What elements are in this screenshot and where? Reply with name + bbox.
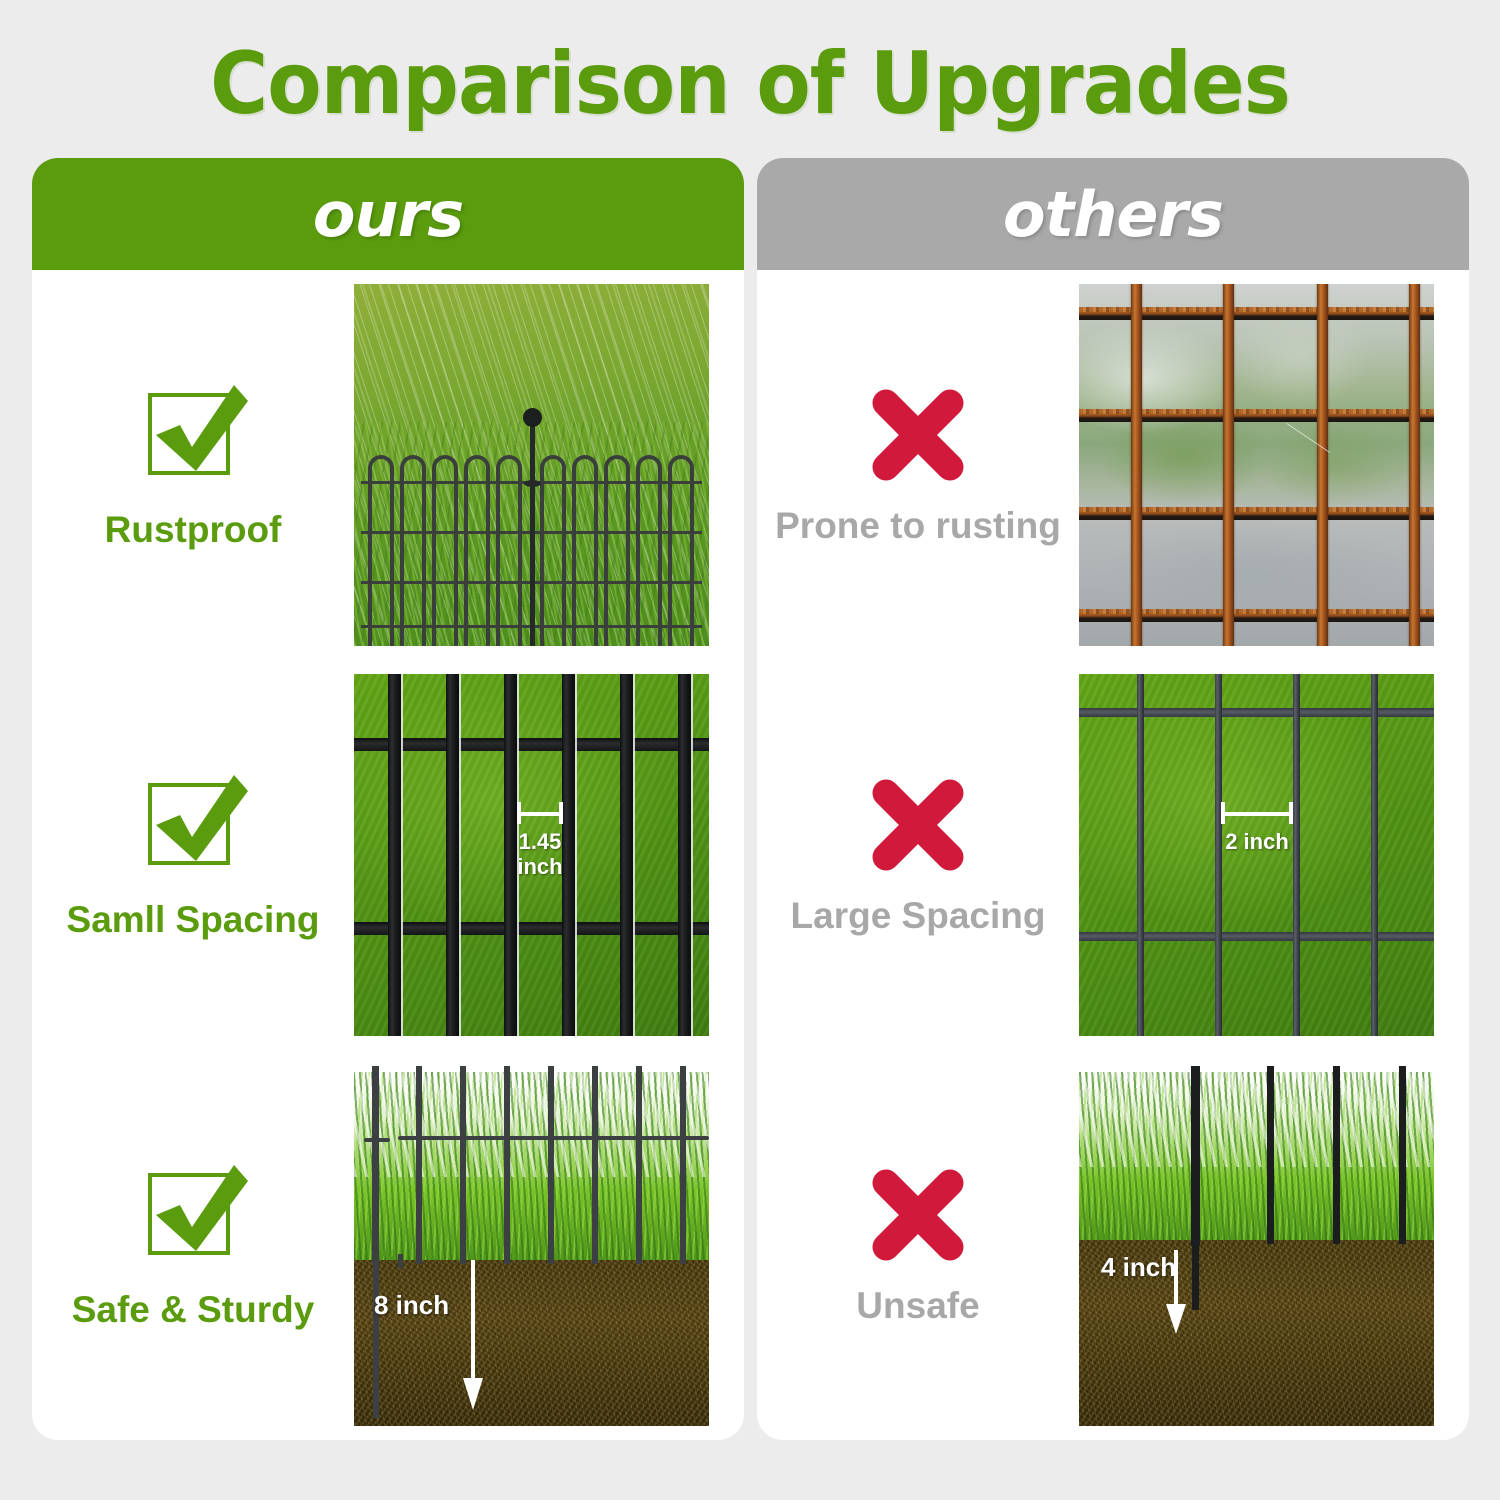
feature-rustproof: Rustproof [32,379,354,551]
column-header-others: others [757,158,1469,270]
fence-finial-collar [524,480,541,487]
page-title: Comparison of Upgrades [60,34,1440,134]
rainy-grass-fence-photo [354,284,709,646]
fence-finial-ball [523,408,542,427]
down-arrow-icon [462,1260,484,1412]
narrow-bar-spacing-photo: 1.45 inch [354,674,709,1036]
rusty-grid-graphic [1079,284,1434,646]
fence-finial-post [530,424,535,646]
row-spacing-ours: Samll Spacing [32,660,744,1050]
feature-large-spacing: Large Spacing [757,773,1079,937]
row-rustproof-ours: Rustproof [32,270,744,660]
dimension-label: 1.45 inch [517,830,562,879]
cross-x-icon [866,383,970,487]
feature-label-small-spacing: Samll Spacing [67,899,320,941]
feature-label-safe-sturdy: Safe & Sturdy [72,1289,315,1331]
rusty-mesh-photo [1079,284,1434,646]
dimension-annotation-2-inch: 2 inch [1221,802,1293,855]
check-icon [134,379,252,491]
column-ours: ours Rustproof [32,158,744,1440]
check-icon [134,769,252,881]
column-others: others Prone to rusting [757,158,1469,1440]
feature-label-large-spacing: Large Spacing [791,895,1046,937]
column-header-ours: ours [32,158,744,270]
feature-safe-sturdy: Safe & Sturdy [32,1159,354,1331]
depth-label: 8 inch [374,1290,449,1321]
feature-label-rustproof: Rustproof [105,509,282,551]
cross-x-icon [866,773,970,877]
feature-label-unsafe: Unsafe [856,1285,979,1327]
column-header-label-others: others [1003,178,1223,251]
dimension-label: 2 inch [1225,830,1289,855]
row-spacing-others: Large Spacing 2 inch [757,660,1469,1050]
deep-stake-cross-section-photo: 8 inch [354,1064,709,1426]
column-body-ours: Rustproof [32,270,744,1440]
row-unsafe-others: Unsafe 4 inch [757,1050,1469,1440]
column-header-label-ours: ours [313,178,463,251]
feature-unsafe: Unsafe [757,1163,1079,1327]
feature-label-prone-to-rusting: Prone to rusting [775,505,1061,547]
down-arrow-icon [1165,1250,1187,1336]
row-sturdy-ours: Safe & Sturdy [32,1050,744,1440]
depth-annotation-8-inch: 8 inch [374,1290,449,1321]
dimension-annotation-1-45-inch: 1.45 inch [517,802,563,879]
check-icon [134,1159,252,1271]
shallow-stake-cross-section-photo: 4 inch [1079,1064,1434,1426]
cross-x-icon [866,1163,970,1267]
wide-bar-spacing-photo: 2 inch [1079,674,1434,1036]
row-rusting-others: Prone to rusting [757,270,1469,660]
comparison-infographic: Comparison of Upgrades ours Rustproof [0,0,1500,1500]
feature-small-spacing: Samll Spacing [32,769,354,941]
feature-prone-to-rusting: Prone to rusting [757,383,1079,547]
column-body-others: Prone to rusting [757,270,1469,1440]
